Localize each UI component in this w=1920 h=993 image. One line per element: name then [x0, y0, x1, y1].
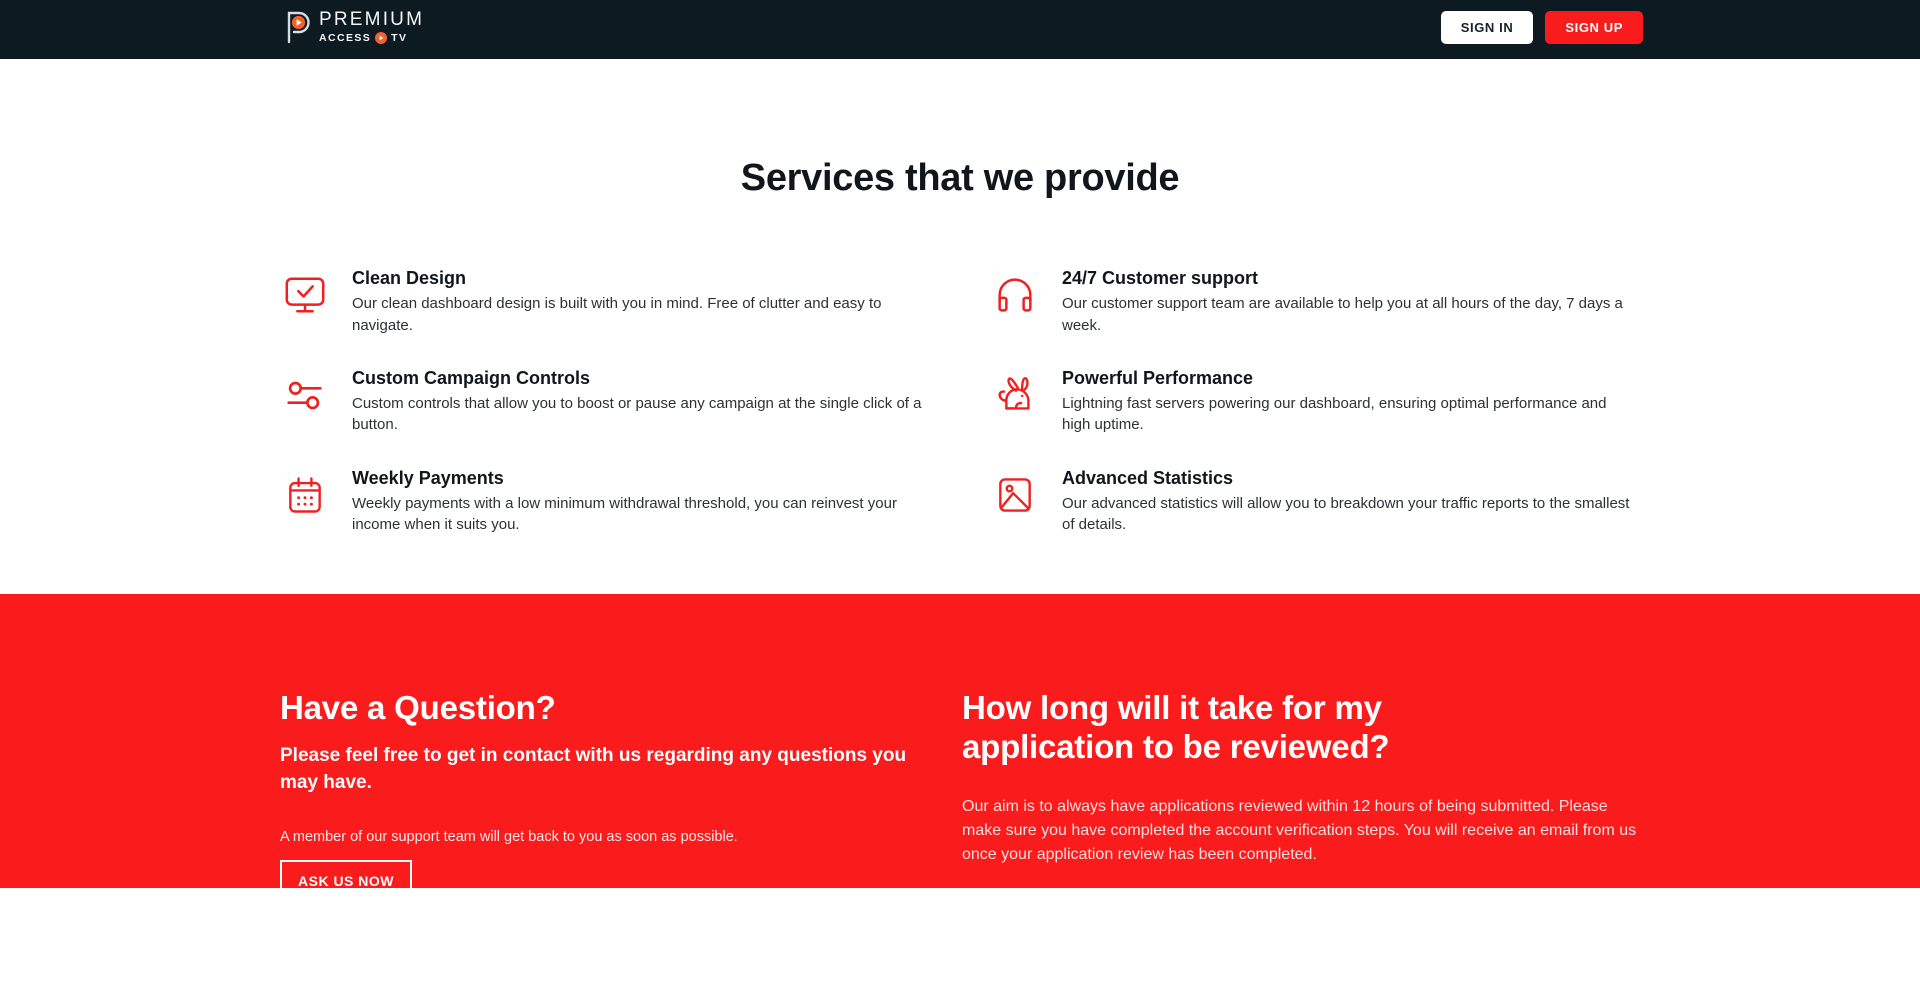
contact-subtext: A member of our support team will get ba…: [280, 827, 962, 847]
logo-secondary-left: ACCESS: [319, 33, 371, 44]
services-grid: Clean Design Our clean dashboard design …: [280, 200, 1640, 536]
feature-advanced-statistics: Advanced Statistics Our advanced statist…: [990, 458, 1640, 536]
feature-customer-support: 24/7 Customer support Our customer suppo…: [990, 258, 1640, 336]
feature-title: Weekly Payments: [352, 466, 930, 490]
monitor-check-icon: [280, 270, 330, 320]
image-icon: [990, 470, 1040, 520]
contact-lead-text: Please feel free to get in contact with …: [280, 743, 940, 797]
sliders-icon: [280, 370, 330, 420]
contact-heading: Have a Question?: [280, 689, 962, 727]
rabbit-icon: [990, 370, 1040, 420]
feature-description: Weekly payments with a low minimum withd…: [352, 493, 930, 536]
contact-left-column: Have a Question? Please feel free to get…: [280, 689, 962, 903]
feature-description: Our advanced statistics will allow you t…: [1062, 493, 1637, 536]
feature-description: Custom controls that allow you to boost …: [352, 393, 930, 436]
logo-play-dot-icon: [375, 32, 387, 44]
services-section: Services that we provide Clean Design Ou…: [0, 59, 1920, 536]
sign-in-button[interactable]: SIGN IN: [1441, 11, 1534, 44]
feature-title: Clean Design: [352, 266, 930, 290]
feature-title: Advanced Statistics: [1062, 466, 1640, 490]
feature-description: Our customer support team are available …: [1062, 293, 1637, 336]
feature-title: Custom Campaign Controls: [352, 366, 930, 390]
logo-p-play-icon: [285, 10, 313, 44]
feature-title: 24/7 Customer support: [1062, 266, 1640, 290]
contact-right-column: How long will it take for my application…: [962, 689, 1640, 903]
faq-heading: How long will it take for my application…: [962, 689, 1482, 767]
feature-campaign-controls: Custom Campaign Controls Custom controls…: [280, 358, 930, 436]
feature-powerful-performance: Powerful Performance Lightning fast serv…: [990, 358, 1640, 436]
sign-up-button[interactable]: SIGN UP: [1545, 11, 1643, 44]
feature-title: Powerful Performance: [1062, 366, 1640, 390]
feature-description: Lightning fast servers powering our dash…: [1062, 393, 1637, 436]
logo-primary-text: PREMIUM: [319, 10, 424, 29]
logo-secondary-right: TV: [391, 33, 407, 44]
feature-clean-design: Clean Design Our clean dashboard design …: [280, 258, 930, 336]
contact-panel: Have a Question? Please feel free to get…: [0, 594, 1920, 888]
feature-description: Our clean dashboard design is built with…: [352, 293, 930, 336]
site-logo[interactable]: PREMIUM ACCESS TV: [285, 10, 424, 44]
headphones-icon: [990, 270, 1040, 320]
feature-weekly-payments: Weekly Payments Weekly payments with a l…: [280, 458, 930, 536]
calendar-icon: [280, 470, 330, 520]
faq-body-text: Our aim is to always have applications r…: [962, 795, 1640, 868]
site-header: PREMIUM ACCESS TV SIGN IN SIGN UP: [0, 0, 1920, 59]
ask-us-now-button[interactable]: ASK US NOW: [280, 860, 412, 903]
header-auth-buttons: SIGN IN SIGN UP: [1441, 11, 1643, 44]
services-heading: Services that we provide: [0, 157, 1920, 200]
